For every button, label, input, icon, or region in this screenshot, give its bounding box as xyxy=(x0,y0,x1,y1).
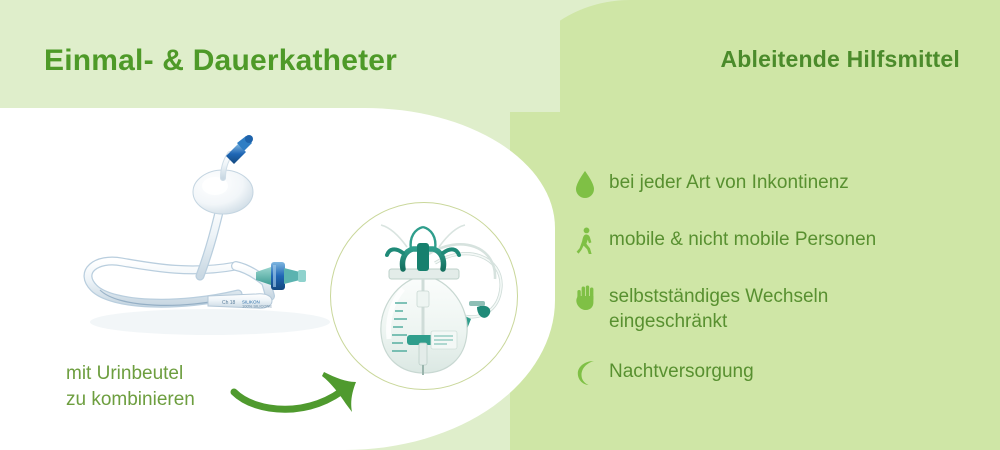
catheter-image: Ch 18 SILIKON 100% SILICONE xyxy=(60,126,360,351)
list-item-label: mobile & nicht mobile Personen xyxy=(609,225,876,252)
infographic-root: Einmal- & Dauerkatheter Ableitende Hilfs… xyxy=(0,0,1000,450)
list-item-label: bei jeder Art von Inkontinenz xyxy=(609,168,849,195)
benefits-list: bei jeder Art von Inkontinenz mobile & n… xyxy=(575,168,975,414)
droplet-icon xyxy=(575,168,609,202)
list-item-label: Nachtversorgung xyxy=(609,357,754,384)
product-caption: mit Urinbeutel zu kombinieren xyxy=(66,361,195,413)
svg-text:Ch 18: Ch 18 xyxy=(222,300,236,306)
hand-icon xyxy=(575,282,609,316)
caption-line-2: zu kombinieren xyxy=(66,387,195,413)
list-item: selbstständiges Wechseln eingeschränkt xyxy=(575,282,975,334)
svg-text:100% SILICONE: 100% SILICONE xyxy=(242,304,272,309)
list-item-label: selbstständiges Wechseln eingeschränkt xyxy=(609,282,828,334)
page-title: Einmal- & Dauerkatheter xyxy=(44,44,397,78)
curved-arrow-icon xyxy=(228,352,388,424)
moon-icon xyxy=(575,357,609,391)
right-panel-title: Ableitende Hilfsmittel xyxy=(720,46,960,73)
caption-line-1: mit Urinbeutel xyxy=(66,361,195,387)
walking-person-icon xyxy=(575,225,609,259)
list-item: mobile & nicht mobile Personen xyxy=(575,225,975,259)
list-item: Nachtversorgung xyxy=(575,357,975,391)
list-item: bei jeder Art von Inkontinenz xyxy=(575,168,975,202)
